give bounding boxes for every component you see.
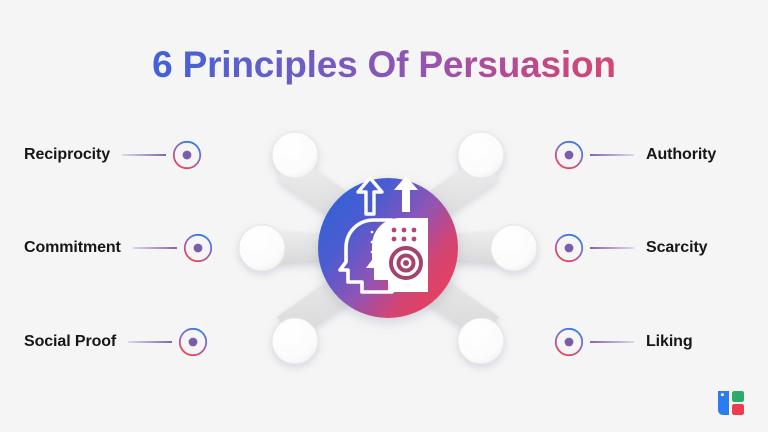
connector-line-commitment bbox=[133, 247, 177, 249]
connector-line-scarcity bbox=[590, 247, 634, 249]
node-reciprocity[interactable]: Reciprocity bbox=[24, 138, 204, 172]
infographic-canvas: 6 Principles Of Persuasion bbox=[0, 0, 768, 432]
persuasion-hub bbox=[208, 118, 568, 384]
node-commitment[interactable]: Commitment bbox=[24, 231, 215, 265]
marker-authority[interactable] bbox=[552, 138, 586, 172]
marker-commitment[interactable] bbox=[181, 231, 215, 265]
node-label-liking: Liking bbox=[646, 333, 693, 351]
page-title: 6 Principles Of Persuasion bbox=[0, 44, 768, 86]
node-label-reciprocity: Reciprocity bbox=[24, 146, 110, 164]
marker-liking[interactable] bbox=[552, 325, 586, 359]
node-label-commitment: Commitment bbox=[24, 239, 121, 257]
node-label-authority: Authority bbox=[646, 146, 716, 164]
node-scarcity[interactable]: Scarcity bbox=[552, 231, 707, 265]
marker-scarcity[interactable] bbox=[552, 231, 586, 265]
node-authority[interactable]: Authority bbox=[552, 138, 716, 172]
node-social-proof[interactable]: Social Proof bbox=[24, 325, 210, 359]
brand-logo[interactable] bbox=[716, 388, 748, 418]
connector-line-reciprocity bbox=[122, 154, 166, 156]
marker-social-proof[interactable] bbox=[176, 325, 210, 359]
connector-line-social-proof bbox=[128, 341, 172, 343]
connector-line-authority bbox=[590, 154, 634, 156]
node-label-social-proof: Social Proof bbox=[24, 333, 116, 351]
node-label-scarcity: Scarcity bbox=[646, 239, 707, 257]
marker-reciprocity[interactable] bbox=[170, 138, 204, 172]
node-liking[interactable]: Liking bbox=[552, 325, 693, 359]
connector-line-liking bbox=[590, 341, 634, 343]
